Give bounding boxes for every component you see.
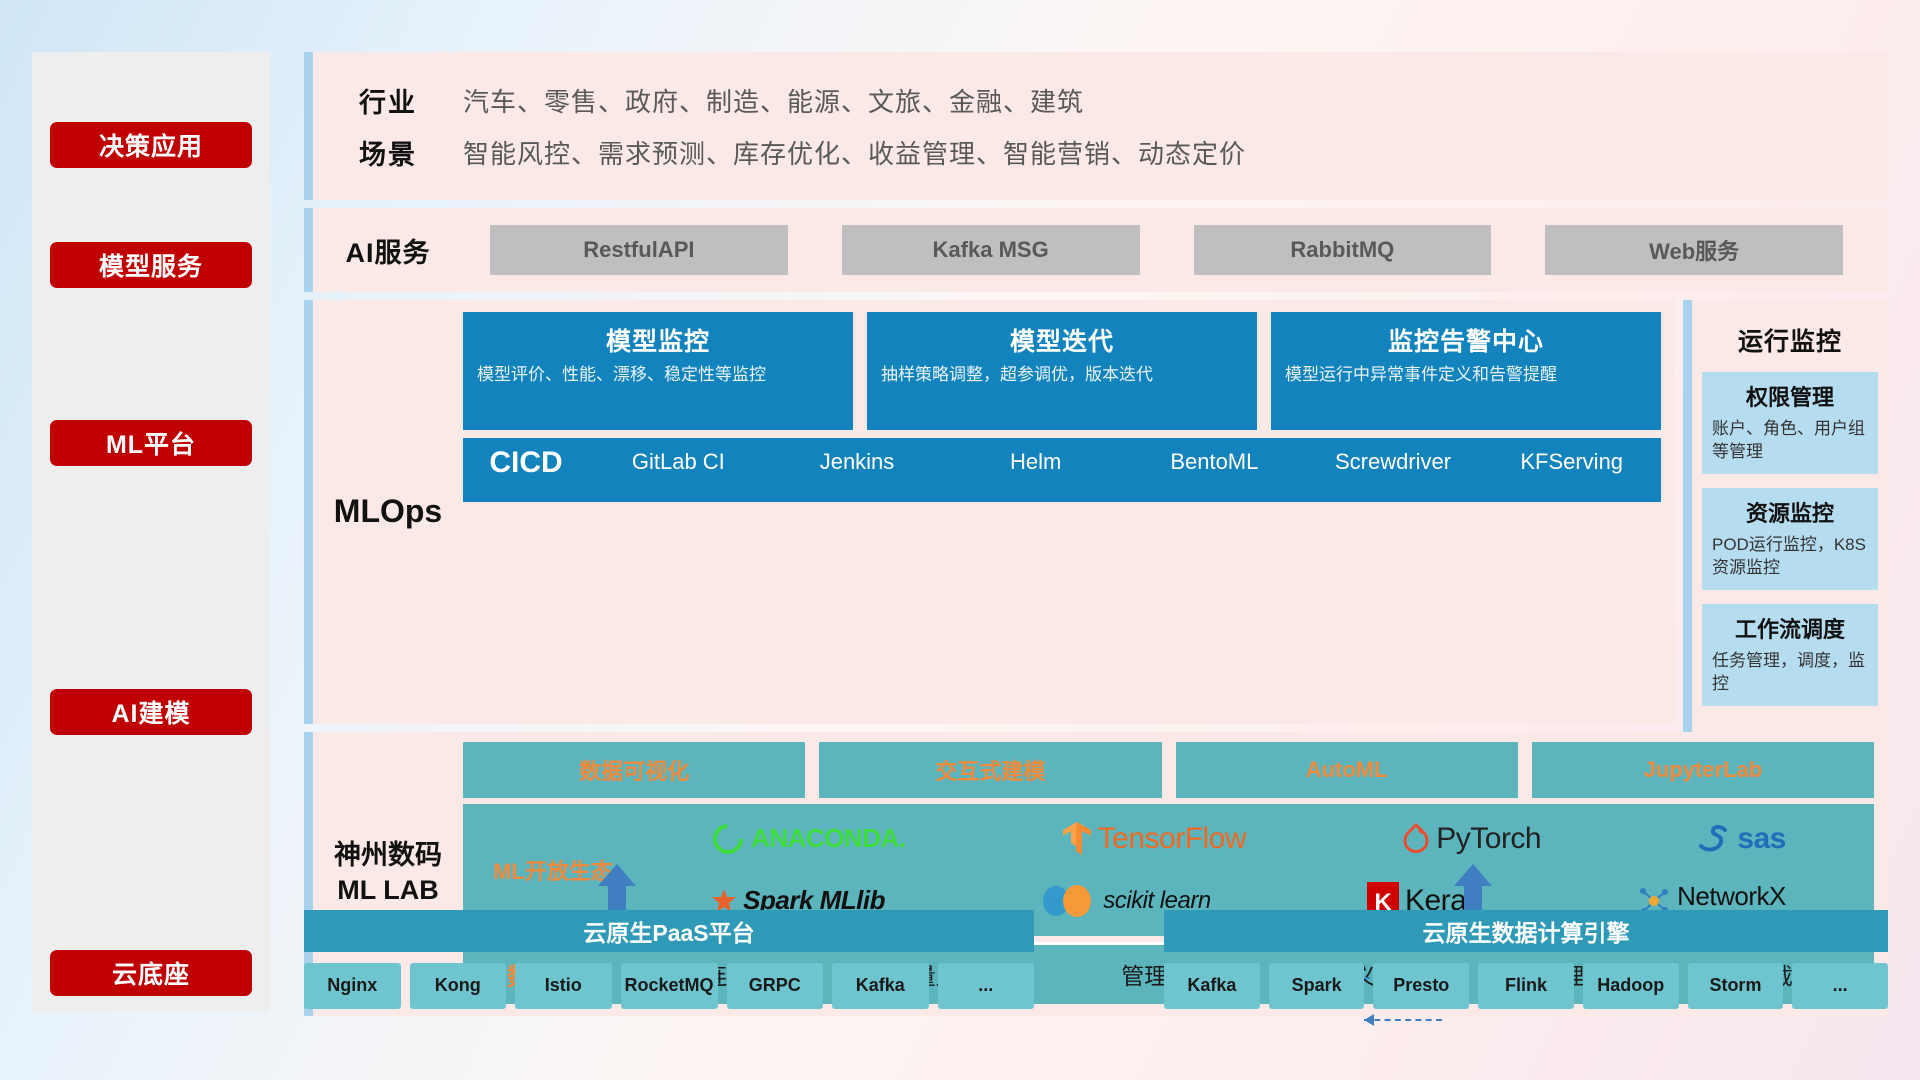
ai-service-box-group: RestfulAPI Kafka MSG RabbitMQ Web服务 bbox=[463, 225, 1888, 275]
cicd-bar: CICD GitLab CI Jenkins Helm BentoML Scre… bbox=[463, 438, 1661, 502]
rail-item-decision-app[interactable]: 决策应用 bbox=[50, 122, 252, 168]
tool-automl[interactable]: AutoML bbox=[1176, 742, 1518, 798]
industry-scenario-band: 行业 汽车、零售、政府、制造、能源、文旅、金融、建筑 场景 智能风控、需求预测、… bbox=[304, 52, 1888, 200]
pytorch-icon bbox=[1402, 822, 1430, 856]
chip-hadoop[interactable]: Hadoop bbox=[1583, 963, 1679, 1009]
card-title: 模型监控 bbox=[477, 322, 839, 358]
card-title: 工作流调度 bbox=[1712, 612, 1868, 644]
cloud-compute-title: 云原生数据计算引擎 bbox=[1164, 910, 1888, 952]
chip-kafka[interactable]: Kafka bbox=[832, 963, 929, 1009]
up-arrow-icon bbox=[1456, 864, 1490, 910]
tool-jupyterlab[interactable]: JupyterLab bbox=[1532, 742, 1874, 798]
rail-label: ML平台 bbox=[106, 425, 196, 461]
chip-spark[interactable]: Spark bbox=[1269, 963, 1365, 1009]
eco-logo-row-1: ANACONDA. TensorFlow bbox=[633, 810, 1864, 868]
card-title: 资源监控 bbox=[1712, 496, 1868, 528]
card-title: 权限管理 bbox=[1712, 380, 1868, 412]
scenario-row: 场景 智能风控、需求预测、库存优化、收益管理、智能营销、动态定价 bbox=[313, 126, 1888, 178]
chip-kong[interactable]: Kong bbox=[410, 963, 507, 1009]
rail-label: AI建模 bbox=[111, 694, 190, 730]
rail-item-ml-platform[interactable]: ML平台 bbox=[50, 420, 252, 466]
cicd-title: CICD bbox=[463, 446, 589, 480]
chip-more[interactable]: ... bbox=[1792, 963, 1888, 1009]
scenario-values: 智能风控、需求预测、库存优化、收益管理、智能营销、动态定价 bbox=[463, 134, 1246, 171]
runtime-monitor-title: 运行监控 bbox=[1702, 322, 1878, 358]
cloud-paas-chip-row: Nginx Kong Istio RocketMQ GRPC Kafka ... bbox=[304, 963, 1034, 1009]
runtime-monitor-panel: 运行监控 权限管理 账户、角色、用户组等管理 资源监控 POD运行监控，K8S资… bbox=[1683, 300, 1888, 732]
up-arrow-icon bbox=[600, 864, 634, 910]
ai-service-band: AI服务 RestfulAPI Kafka MSG RabbitMQ Web服务 bbox=[304, 208, 1888, 292]
chip-presto[interactable]: Presto bbox=[1373, 963, 1469, 1009]
card-desc: 任务管理，调度，监控 bbox=[1712, 650, 1868, 696]
chip-rocketmq[interactable]: RocketMQ bbox=[621, 963, 718, 1009]
sas-logo: sas bbox=[1697, 822, 1786, 856]
cicd-item-jenkins[interactable]: Jenkins bbox=[768, 446, 947, 474]
pytorch-logo-text: PyTorch bbox=[1436, 822, 1541, 856]
card-desc: 模型运行中异常事件定义和告警提醒 bbox=[1285, 364, 1647, 387]
tensorflow-logo: TensorFlow bbox=[1062, 821, 1246, 857]
ai-service-box-rabbitmq[interactable]: RabbitMQ bbox=[1194, 225, 1492, 275]
card-desc: 账户、角色、用户组等管理 bbox=[1712, 418, 1868, 464]
ml-lab-tool-group: 数据可视化 交互式建模 AutoML JupyterLab bbox=[463, 742, 1874, 798]
compute-up-arrow bbox=[1456, 864, 1490, 910]
card-title: 监控告警中心 bbox=[1285, 322, 1647, 358]
ai-service-box-web-service[interactable]: Web服务 bbox=[1545, 225, 1843, 275]
cloud-compute-chip-row: Kafka Spark Presto Flink Hadoop Storm ..… bbox=[1164, 963, 1888, 1009]
cicd-item-bentoml[interactable]: BentoML bbox=[1125, 446, 1304, 474]
sas-logo-text: sas bbox=[1737, 822, 1786, 856]
chip-more[interactable]: ... bbox=[938, 963, 1035, 1009]
ai-service-box-kafka-msg[interactable]: Kafka MSG bbox=[842, 225, 1140, 275]
rail-item-model-service[interactable]: 模型服务 bbox=[50, 242, 252, 288]
ai-service-label: AI服务 bbox=[313, 231, 463, 270]
dashed-arrow-left bbox=[1364, 1010, 1460, 1030]
monitor-card-workflow[interactable]: 工作流调度 任务管理，调度，监控 bbox=[1702, 604, 1878, 706]
scenario-label: 场景 bbox=[313, 133, 463, 172]
chip-grpc[interactable]: GRPC bbox=[727, 963, 824, 1009]
left-rail: 决策应用 模型服务 ML平台 AI建模 云底座 bbox=[32, 52, 270, 1012]
card-desc: POD运行监控，K8S资源监控 bbox=[1712, 534, 1868, 580]
sas-icon bbox=[1697, 824, 1731, 854]
rail-label: 云底座 bbox=[112, 955, 190, 991]
tool-data-visualization[interactable]: 数据可视化 bbox=[463, 742, 805, 798]
monitor-card-permission[interactable]: 权限管理 账户、角色、用户组等管理 bbox=[1702, 372, 1878, 474]
mlops-card-group: 模型监控 模型评价、性能、漂移、稳定性等监控 模型迭代 抽样策略调整，超参调优，… bbox=[463, 312, 1661, 430]
industry-label: 行业 bbox=[313, 81, 463, 120]
anaconda-logo: ANACONDA. bbox=[711, 822, 905, 856]
mlops-and-monitor-row: MLOps 模型监控 模型评价、性能、漂移、稳定性等监控 模型迭代 抽样策略调整… bbox=[304, 300, 1888, 732]
chip-istio[interactable]: Istio bbox=[515, 963, 612, 1009]
mlops-card-alert-center[interactable]: 监控告警中心 模型运行中异常事件定义和告警提醒 bbox=[1271, 312, 1661, 430]
industry-row: 行业 汽车、零售、政府、制造、能源、文旅、金融、建筑 bbox=[313, 74, 1888, 126]
cicd-item-screwdriver[interactable]: Screwdriver bbox=[1304, 446, 1483, 474]
paas-up-arrow bbox=[600, 864, 634, 910]
pytorch-logo: PyTorch bbox=[1402, 822, 1541, 856]
anaconda-icon bbox=[711, 822, 745, 856]
chip-flink[interactable]: Flink bbox=[1478, 963, 1574, 1009]
monitor-card-resource[interactable]: 资源监控 POD运行监控，K8S资源监控 bbox=[1702, 488, 1878, 590]
anaconda-logo-text: ANACONDA. bbox=[751, 823, 905, 854]
tensorflow-icon bbox=[1062, 821, 1092, 857]
rail-item-cloud-base[interactable]: 云底座 bbox=[50, 950, 252, 996]
mlops-card-model-iteration[interactable]: 模型迭代 抽样策略调整，超参调优，版本迭代 bbox=[867, 312, 1257, 430]
cicd-item-kfserving[interactable]: KFServing bbox=[1482, 446, 1661, 474]
mlops-band: MLOps 模型监控 模型评价、性能、漂移、稳定性等监控 模型迭代 抽样策略调整… bbox=[304, 300, 1675, 724]
card-desc: 模型评价、性能、漂移、稳定性等监控 bbox=[477, 364, 839, 387]
mlops-label: MLOps bbox=[313, 312, 463, 712]
tool-interactive-modeling[interactable]: 交互式建模 bbox=[819, 742, 1161, 798]
cloud-compute-column: 云原生数据计算引擎 Kafka Spark Presto Flink Hadoo… bbox=[1164, 910, 1888, 1009]
rail-label: 决策应用 bbox=[99, 127, 203, 163]
chip-nginx[interactable]: Nginx bbox=[304, 963, 401, 1009]
card-title: 模型迭代 bbox=[881, 322, 1243, 358]
cloud-foundation-zone: 云原生PaaS平台 Nginx Kong Istio RocketMQ GRPC… bbox=[304, 864, 1888, 1044]
chip-storm[interactable]: Storm bbox=[1688, 963, 1784, 1009]
industry-values: 汽车、零售、政府、制造、能源、文旅、金融、建筑 bbox=[463, 82, 1084, 119]
tensorflow-logo-text: TensorFlow bbox=[1098, 822, 1246, 856]
rail-item-ai-modeling[interactable]: AI建模 bbox=[50, 689, 252, 735]
chip-kafka[interactable]: Kafka bbox=[1164, 963, 1260, 1009]
rail-label: 模型服务 bbox=[99, 247, 203, 283]
cicd-item-helm[interactable]: Helm bbox=[946, 446, 1125, 474]
card-desc: 抽样策略调整，超参调优，版本迭代 bbox=[881, 364, 1243, 387]
mlops-content: 模型监控 模型评价、性能、漂移、稳定性等监控 模型迭代 抽样策略调整，超参调优，… bbox=[463, 312, 1661, 712]
cicd-item-gitlab-ci[interactable]: GitLab CI bbox=[589, 446, 768, 474]
cloud-paas-column: 云原生PaaS平台 Nginx Kong Istio RocketMQ GRPC… bbox=[304, 910, 1034, 1009]
cloud-paas-title: 云原生PaaS平台 bbox=[304, 910, 1034, 952]
mlops-card-model-monitoring[interactable]: 模型监控 模型评价、性能、漂移、稳定性等监控 bbox=[463, 312, 853, 430]
ai-service-box-restfulapi[interactable]: RestfulAPI bbox=[490, 225, 788, 275]
